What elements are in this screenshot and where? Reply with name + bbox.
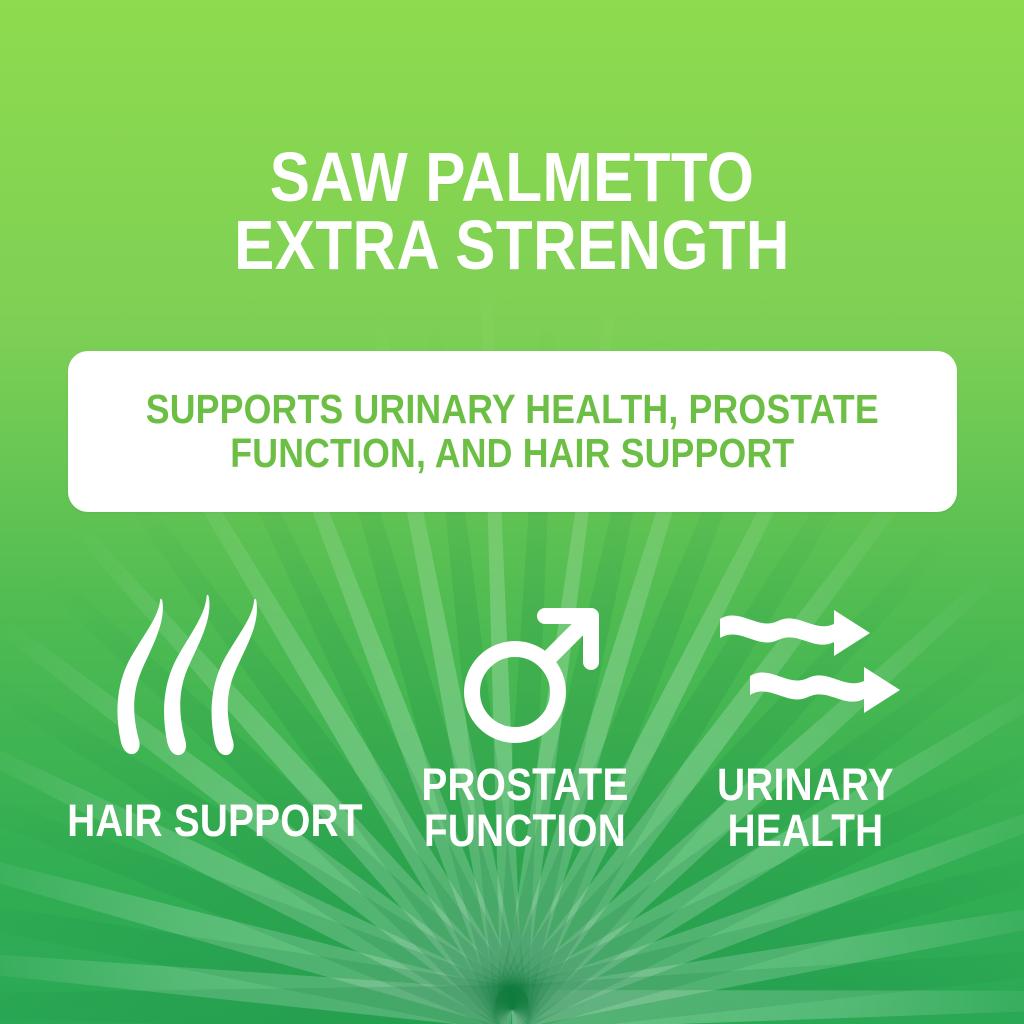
claim-banner-text: SUPPORTS URINARY HEALTH, PROSTATE FUNCTI… bbox=[146, 388, 879, 476]
benefit-urinary-health-caption-line-1: URINARY bbox=[696, 762, 915, 808]
mars-male-symbol-icon bbox=[395, 580, 655, 765]
benefit-prostate-function-iconbox bbox=[395, 580, 655, 765]
benefit-prostate-function-caption-line-1: PROSTATE bbox=[413, 762, 637, 808]
claim-banner: SUPPORTS URINARY HEALTH, PROSTATE FUNCTI… bbox=[68, 351, 957, 512]
page-title-line-2: EXTRA STRENGTH bbox=[72, 211, 953, 280]
page-title: SAW PALMETTO EXTRA STRENGTH bbox=[72, 143, 953, 280]
benefits-row: HAIR SUPPORT PROSTATE FUNCTION bbox=[0, 580, 1024, 910]
benefit-hair-support: HAIR SUPPORT bbox=[40, 580, 390, 910]
benefit-hair-support-caption-line-1: HAIR SUPPORT bbox=[65, 798, 366, 844]
product-feature-poster: SAW PALMETTO EXTRA STRENGTH SUPPORTS URI… bbox=[0, 0, 1024, 1024]
benefit-urinary-health-caption-line-2: HEALTH bbox=[696, 808, 915, 854]
benefit-hair-support-iconbox bbox=[40, 580, 390, 765]
benefit-prostate-function: PROSTATE FUNCTION bbox=[395, 580, 655, 910]
benefit-urinary-health: URINARY HEALTH bbox=[678, 580, 933, 910]
benefit-prostate-function-caption-line-2: FUNCTION bbox=[413, 808, 637, 854]
benefit-urinary-health-iconbox bbox=[678, 580, 933, 765]
hair-strands-icon bbox=[40, 580, 390, 765]
claim-banner-line-2: FUNCTION, AND HAIR SUPPORT bbox=[146, 432, 879, 476]
benefit-prostate-function-caption: PROSTATE FUNCTION bbox=[413, 762, 637, 854]
page-title-line-1: SAW PALMETTO bbox=[72, 143, 953, 212]
benefit-urinary-health-caption: URINARY HEALTH bbox=[696, 762, 915, 854]
benefit-hair-support-caption: HAIR SUPPORT bbox=[65, 798, 366, 844]
wavy-flow-arrows-icon bbox=[678, 580, 933, 765]
claim-banner-line-1: SUPPORTS URINARY HEALTH, PROSTATE bbox=[146, 388, 879, 432]
